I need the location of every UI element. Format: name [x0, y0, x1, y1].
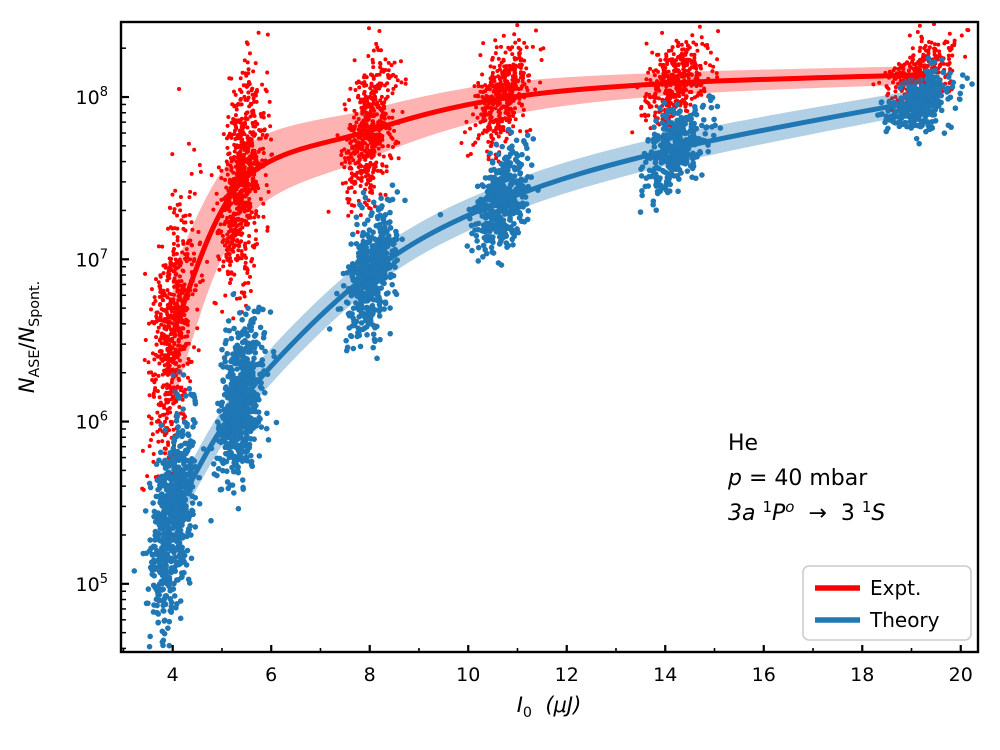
- data-point: [247, 67, 251, 71]
- data-point: [246, 223, 250, 227]
- data-point: [252, 215, 256, 219]
- data-point: [709, 51, 713, 55]
- data-point: [166, 288, 170, 292]
- data-point: [911, 46, 915, 50]
- data-point: [172, 231, 176, 235]
- data-point: [165, 580, 171, 586]
- data-point: [175, 214, 179, 218]
- data-point: [354, 173, 358, 177]
- data-point: [163, 317, 167, 321]
- data-point: [494, 51, 498, 55]
- data-point: [676, 44, 680, 48]
- data-point: [528, 128, 532, 132]
- data-point: [383, 301, 389, 307]
- data-point: [665, 60, 669, 64]
- data-point: [179, 218, 183, 222]
- data-point: [176, 243, 180, 247]
- data-point: [162, 461, 168, 467]
- data-point: [913, 62, 917, 66]
- data-point: [166, 274, 170, 278]
- data-point: [208, 518, 214, 524]
- data-point: [153, 372, 157, 376]
- data-point: [369, 177, 373, 181]
- data-point: [197, 348, 201, 352]
- data-point: [491, 71, 495, 75]
- data-point: [938, 63, 942, 67]
- data-point: [187, 386, 193, 392]
- data-point: [716, 29, 720, 33]
- data-point: [341, 182, 345, 186]
- data-point: [238, 98, 242, 102]
- data-point: [695, 94, 699, 98]
- data-point: [160, 353, 164, 357]
- data-point: [155, 343, 159, 347]
- data-point: [166, 227, 170, 231]
- data-point: [166, 320, 170, 324]
- data-point: [918, 46, 922, 50]
- data-point: [695, 49, 699, 53]
- data-point: [390, 197, 396, 203]
- data-point: [159, 492, 165, 498]
- data-point: [920, 57, 924, 61]
- data-point: [170, 477, 176, 483]
- data-point: [348, 87, 352, 91]
- data-point: [387, 331, 393, 337]
- data-point: [177, 554, 183, 560]
- data-point: [149, 438, 153, 442]
- data-point: [160, 603, 166, 609]
- data-point: [162, 631, 168, 637]
- data-point: [154, 311, 158, 315]
- data-point: [474, 123, 478, 127]
- data-point: [250, 342, 256, 348]
- data-point: [942, 41, 946, 45]
- data-point: [160, 608, 166, 614]
- data-point: [522, 41, 526, 45]
- data-point: [266, 33, 270, 37]
- data-point: [264, 88, 268, 92]
- data-point: [648, 105, 652, 109]
- data-point: [346, 201, 350, 205]
- data-point: [497, 123, 501, 127]
- data-point: [363, 195, 369, 201]
- data-point: [229, 270, 233, 274]
- data-point: [229, 375, 235, 381]
- data-point: [493, 75, 497, 79]
- data-point: [255, 242, 259, 246]
- data-point: [948, 32, 952, 36]
- data-point: [221, 264, 225, 268]
- data-point: [158, 273, 162, 277]
- data-point: [193, 401, 199, 407]
- data-point: [645, 100, 649, 104]
- data-point: [191, 417, 197, 423]
- data-point: [252, 333, 258, 339]
- data-point: [673, 65, 677, 69]
- data-point: [244, 433, 250, 439]
- data-point: [152, 509, 158, 515]
- data-point: [918, 24, 922, 28]
- data-point: [350, 176, 354, 180]
- data-point: [148, 444, 152, 448]
- data-point: [166, 335, 170, 339]
- data-point: [380, 162, 384, 166]
- data-point: [492, 120, 496, 124]
- data-point: [254, 237, 258, 241]
- data-point: [152, 357, 156, 361]
- data-point: [172, 565, 178, 571]
- data-point: [161, 473, 167, 479]
- data-point: [167, 608, 173, 614]
- data-point: [166, 384, 170, 388]
- data-point: [239, 423, 245, 429]
- data-point: [513, 67, 517, 71]
- data-point: [237, 310, 243, 316]
- data-point: [165, 507, 171, 513]
- data-point: [652, 69, 656, 73]
- data-point: [226, 115, 230, 119]
- data-point: [170, 152, 174, 156]
- data-point: [352, 180, 356, 184]
- data-point: [694, 43, 698, 47]
- data-point: [397, 156, 401, 160]
- data-point: [192, 524, 198, 530]
- data-point: [150, 378, 154, 382]
- data-point: [156, 440, 160, 444]
- data-point: [686, 43, 690, 47]
- data-point: [685, 109, 689, 113]
- data-point: [372, 163, 376, 167]
- data-point: [366, 54, 370, 58]
- chart-plot: 468101214161820105106107108 I0 (μJ) NASE…: [0, 0, 1000, 750]
- data-point: [217, 268, 221, 272]
- data-point: [346, 325, 352, 331]
- data-point: [377, 29, 381, 33]
- data-point: [382, 100, 386, 104]
- data-point: [155, 411, 159, 415]
- data-point: [167, 372, 171, 376]
- data-point: [248, 324, 254, 330]
- data-point: [225, 136, 229, 140]
- data-point: [353, 190, 357, 194]
- data-point: [140, 551, 146, 557]
- data-point: [387, 68, 391, 72]
- data-point: [171, 586, 177, 592]
- data-point: [377, 313, 383, 319]
- data-point: [247, 234, 251, 238]
- data-point: [163, 420, 167, 424]
- data-point: [168, 501, 174, 507]
- data-point: [167, 342, 171, 346]
- data-point: [506, 69, 510, 73]
- data-point: [481, 41, 485, 45]
- data-point: [372, 90, 376, 94]
- data-point: [517, 64, 521, 68]
- data-point: [251, 436, 257, 442]
- data-point: [265, 229, 269, 233]
- data-point: [481, 131, 485, 135]
- data-point: [390, 63, 394, 67]
- data-point: [253, 350, 259, 356]
- data-point: [363, 296, 369, 302]
- data-point: [219, 487, 225, 493]
- data-point: [374, 42, 378, 46]
- data-point: [246, 60, 250, 64]
- data-point: [379, 203, 385, 209]
- data-point: [254, 229, 258, 233]
- data-point: [164, 398, 168, 402]
- data-point: [167, 619, 173, 625]
- data-point: [210, 173, 214, 177]
- data-point: [156, 330, 160, 334]
- data-point: [163, 593, 169, 599]
- data-point: [241, 283, 245, 287]
- data-point: [170, 193, 174, 197]
- data-point: [241, 71, 245, 75]
- data-point: [239, 373, 245, 379]
- data-point: [220, 468, 226, 474]
- data-point: [162, 333, 166, 337]
- data-point: [150, 287, 154, 291]
- data-point: [471, 143, 475, 147]
- data-point: [259, 345, 265, 351]
- data-point: [244, 261, 248, 265]
- data-point: [683, 105, 687, 109]
- data-point: [381, 171, 385, 175]
- data-point: [362, 221, 368, 227]
- data-point: [345, 190, 349, 194]
- data-point: [161, 526, 167, 532]
- data-point: [233, 441, 239, 447]
- data-point: [363, 240, 369, 246]
- data-point: [661, 63, 665, 67]
- data-point: [188, 213, 192, 217]
- data-point: [497, 134, 501, 138]
- data-point: [347, 313, 353, 319]
- data-point: [225, 479, 231, 485]
- data-point: [387, 76, 391, 80]
- data-point: [370, 345, 376, 351]
- data-point: [370, 322, 376, 328]
- data-point: [158, 414, 162, 418]
- data-point: [175, 227, 179, 231]
- data-point: [230, 292, 236, 298]
- data-point: [372, 185, 376, 189]
- data-point: [508, 64, 512, 68]
- data-point: [181, 239, 185, 243]
- data-point: [176, 395, 182, 401]
- data-point: [162, 383, 166, 387]
- data-point: [478, 53, 482, 57]
- data-point: [264, 426, 270, 432]
- data-point: [360, 169, 364, 173]
- data-point: [222, 392, 228, 398]
- figure-canvas: 468101214161820105106107108 I0 (μJ) NASE…: [0, 0, 1000, 750]
- data-point: [496, 74, 500, 78]
- data-point: [327, 326, 333, 332]
- data-point: [255, 307, 261, 313]
- data-point: [173, 483, 179, 489]
- data-point: [236, 254, 240, 258]
- data-point: [146, 360, 150, 364]
- data-point: [187, 511, 193, 517]
- data-point: [381, 281, 387, 287]
- data-point: [524, 66, 528, 70]
- data-point: [386, 95, 390, 99]
- data-point: [377, 337, 383, 343]
- data-point: [475, 258, 481, 264]
- data-point: [240, 137, 244, 141]
- data-point: [357, 85, 361, 89]
- data-point: [359, 184, 363, 188]
- data-point: [156, 389, 160, 393]
- data-point: [356, 230, 360, 234]
- data-point: [508, 48, 512, 52]
- data-point: [343, 338, 349, 344]
- data-point: [402, 198, 408, 204]
- data-point: [173, 605, 179, 611]
- data-point: [152, 302, 156, 306]
- data-point: [361, 190, 367, 196]
- data-point: [157, 402, 161, 406]
- data-point: [368, 161, 372, 165]
- data-point: [699, 93, 703, 97]
- data-point: [246, 134, 250, 138]
- data-point: [193, 192, 197, 196]
- data-point: [147, 371, 151, 375]
- data-point: [184, 421, 190, 427]
- data-point: [151, 563, 157, 569]
- data-point: [172, 437, 178, 443]
- data-point: [233, 137, 237, 141]
- data-point: [157, 374, 161, 378]
- data-point: [347, 186, 351, 190]
- data-point: [245, 349, 251, 355]
- data-point: [372, 337, 378, 343]
- data-point: [381, 68, 385, 72]
- data-point: [250, 137, 254, 141]
- data-point: [246, 425, 252, 431]
- data-point: [499, 144, 505, 150]
- data-point: [393, 61, 397, 65]
- data-point: [239, 317, 245, 323]
- data-point: [131, 568, 137, 574]
- data-point: [350, 232, 356, 238]
- data-point: [245, 98, 249, 102]
- data-point: [226, 124, 230, 128]
- data-point: [176, 203, 180, 207]
- data-point: [680, 52, 684, 56]
- data-point: [179, 574, 185, 580]
- data-point: [399, 59, 403, 63]
- data-point: [231, 359, 237, 365]
- data-point: [362, 92, 366, 96]
- data-point: [187, 523, 193, 529]
- data-point: [261, 335, 267, 341]
- data-point: [236, 232, 240, 236]
- data-point: [166, 271, 170, 275]
- data-point: [493, 38, 497, 42]
- data-point: [229, 336, 235, 342]
- data-point: [165, 278, 169, 282]
- data-point: [648, 67, 652, 71]
- data-point: [197, 501, 203, 507]
- data-point: [394, 75, 398, 79]
- data-point: [242, 291, 246, 295]
- data-point: [947, 54, 951, 58]
- data-point: [161, 373, 165, 377]
- data-point: [155, 590, 161, 596]
- data-point: [153, 494, 159, 500]
- data-point: [214, 301, 218, 305]
- data-point: [190, 393, 196, 399]
- data-point: [664, 54, 668, 58]
- data-point: [179, 195, 183, 199]
- data-point: [502, 34, 506, 38]
- data-point: [908, 62, 912, 66]
- data-point: [231, 490, 237, 496]
- data-point: [928, 45, 932, 49]
- data-point: [235, 239, 239, 243]
- data-point: [379, 62, 383, 66]
- data-point: [682, 64, 686, 68]
- data-point: [253, 125, 257, 129]
- data-point: [229, 77, 233, 81]
- data-point: [228, 263, 232, 267]
- data-point: [168, 392, 172, 396]
- data-point: [491, 56, 495, 60]
- data-point: [173, 546, 179, 552]
- data-point: [239, 444, 245, 450]
- data-point: [160, 563, 166, 569]
- data-point: [163, 292, 167, 296]
- data-point: [232, 469, 238, 475]
- data-point: [169, 257, 173, 261]
- data-point: [146, 586, 152, 592]
- data-point: [167, 525, 173, 531]
- data-point: [349, 210, 353, 214]
- data-point: [187, 580, 193, 586]
- data-point: [232, 143, 236, 147]
- data-point: [919, 35, 923, 39]
- data-point: [386, 88, 390, 92]
- data-point: [646, 113, 650, 117]
- data-point: [167, 325, 171, 329]
- data-point: [183, 393, 189, 399]
- data-point: [504, 51, 508, 55]
- data-point: [183, 220, 187, 224]
- data-point: [243, 312, 249, 318]
- data-point: [192, 345, 196, 349]
- data-point: [233, 129, 237, 133]
- data-point: [343, 107, 347, 111]
- data-point: [904, 62, 908, 66]
- data-point: [162, 327, 166, 331]
- data-point: [963, 55, 967, 59]
- data-point: [254, 91, 258, 95]
- data-point: [230, 383, 236, 389]
- data-point: [497, 241, 503, 247]
- data-point: [381, 217, 387, 223]
- data-point: [164, 538, 170, 544]
- data-point: [236, 244, 240, 248]
- data-point: [346, 264, 352, 270]
- data-point: [490, 234, 496, 240]
- data-point: [181, 214, 185, 218]
- data-point: [247, 445, 253, 451]
- data-point: [225, 146, 229, 150]
- data-point: [362, 97, 366, 101]
